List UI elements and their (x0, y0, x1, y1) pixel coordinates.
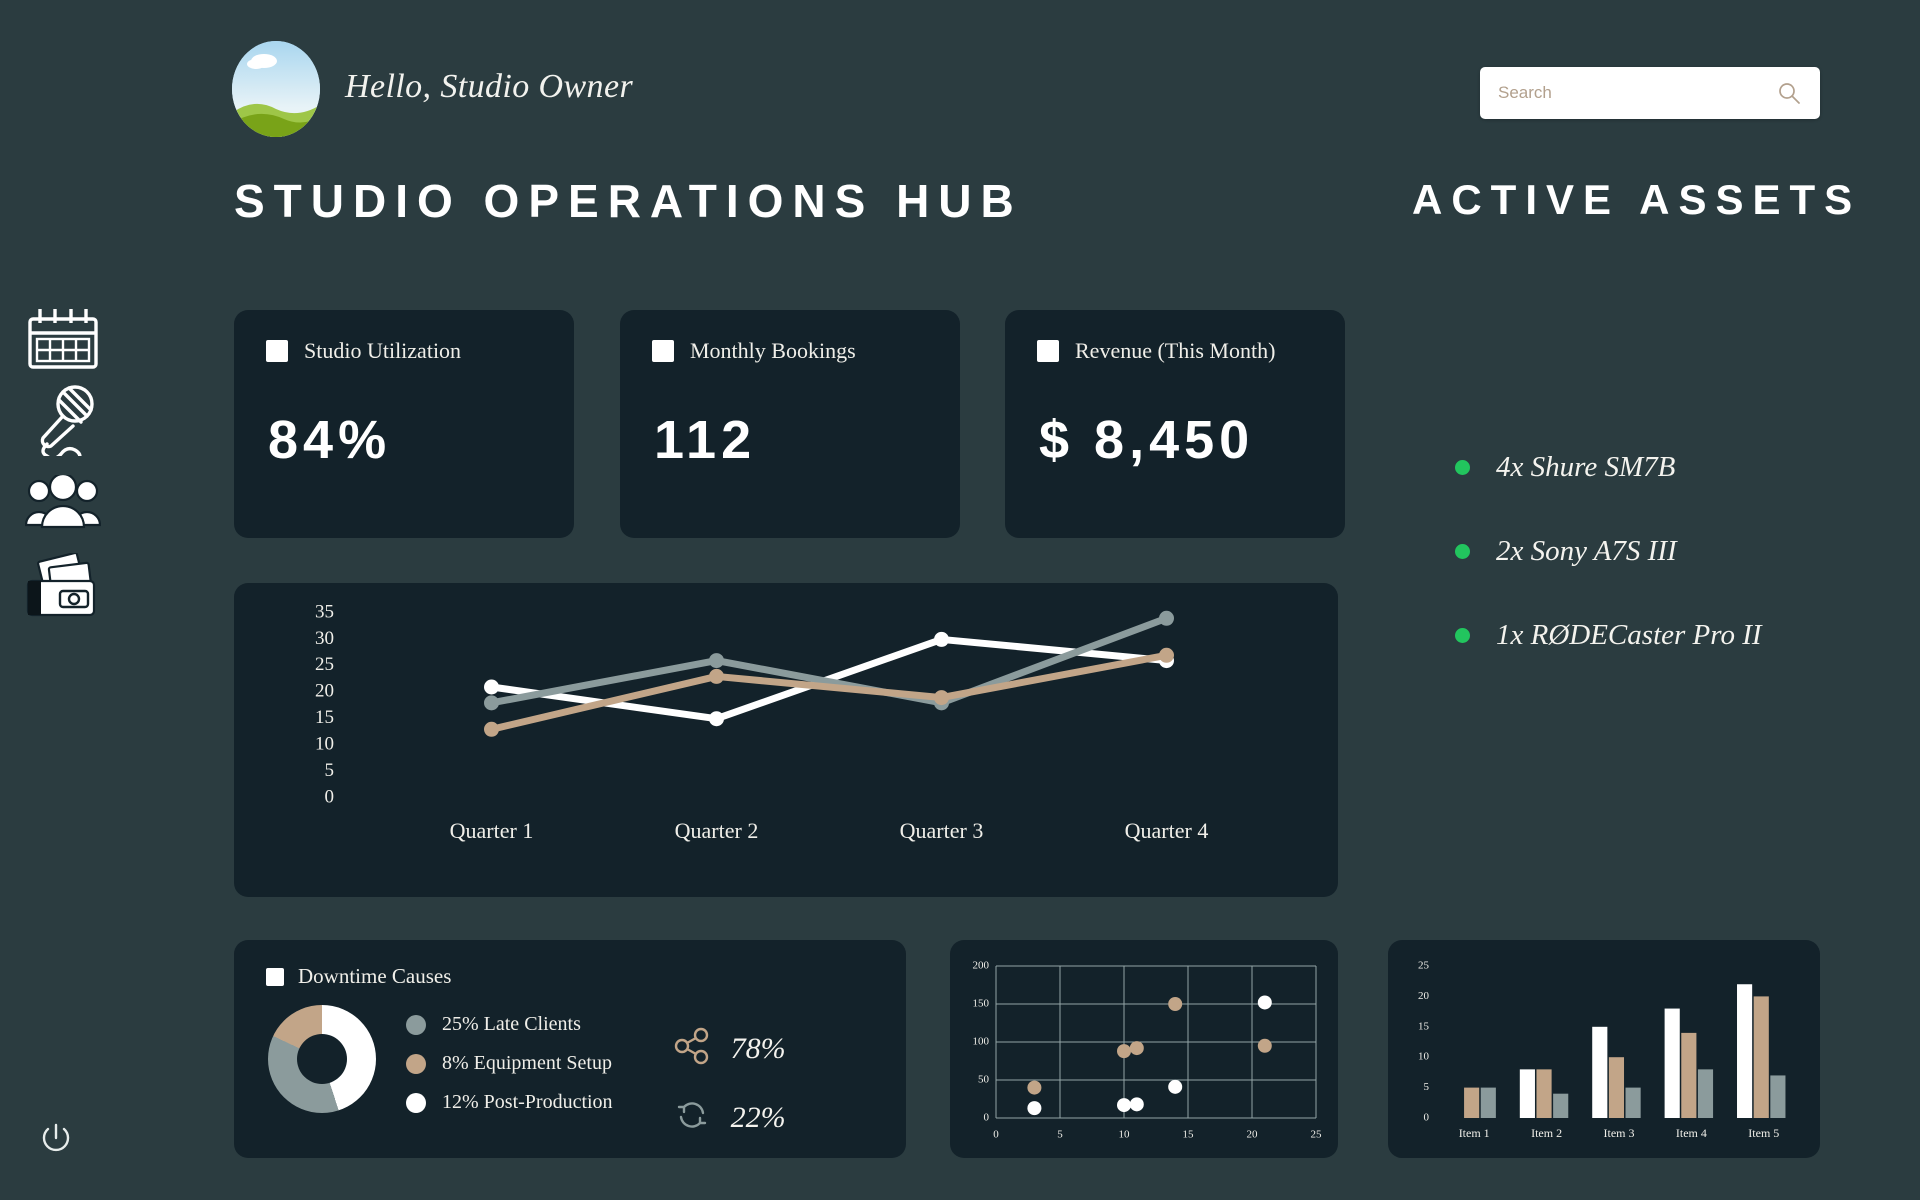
status-dot-icon (1455, 628, 1470, 643)
svg-text:Quarter 1: Quarter 1 (450, 818, 534, 843)
svg-text:10: 10 (315, 734, 334, 755)
quarterly-line-chart: 35302520151050Quarter 1Quarter 2Quarter … (234, 583, 1338, 897)
page-title: STUDIO OPERATIONS HUB (234, 174, 1023, 228)
kpi-label: Studio Utilization (304, 338, 461, 364)
legend-label: 25% Late Clients (442, 1013, 581, 1036)
power-button[interactable] (36, 1120, 76, 1160)
downtime-causes-card[interactable]: Downtime Causes 25% Late Clients 8% Equi… (234, 940, 906, 1158)
svg-text:Quarter 3: Quarter 3 (900, 818, 984, 843)
svg-text:5: 5 (325, 760, 335, 781)
sidebar-item-people[interactable] (22, 462, 104, 544)
sidebar (0, 0, 120, 1200)
kpi-header: Studio Utilization (234, 310, 574, 364)
legend-dot-icon (406, 1015, 426, 1035)
svg-text:0: 0 (993, 1129, 999, 1141)
kpi-header: Revenue (This Month) (1005, 310, 1345, 364)
sidebar-item-microphone[interactable] (22, 378, 104, 460)
legend-label: 8% Equipment Setup (442, 1052, 612, 1075)
svg-text:Quarter 2: Quarter 2 (675, 818, 759, 843)
asset-label: 4x Shure SM7B (1496, 451, 1675, 484)
asset-label: 2x Sony A7S III (1496, 535, 1677, 568)
kpi-value: 84% (234, 409, 574, 471)
downtime-donut-chart (268, 1005, 376, 1113)
svg-text:35: 35 (315, 601, 334, 622)
downtime-stats: 78% 22% (643, 1005, 786, 1139)
greeting-text: Hello, Studio Owner (345, 68, 633, 106)
donut-legend: 25% Late Clients 8% Equipment Setup 12% … (406, 1005, 613, 1114)
dashboard-root: Hello, Studio Owner STUDIO OPERATIONS HU… (0, 0, 1920, 1200)
avatar[interactable] (232, 41, 320, 137)
stat-row-share: 78% (673, 1027, 786, 1070)
svg-text:5: 5 (1057, 1129, 1063, 1141)
svg-text:30: 30 (315, 628, 334, 649)
svg-text:25: 25 (1418, 960, 1430, 972)
kpi-header: Monthly Bookings (620, 310, 960, 364)
kpi-label: Monthly Bookings (690, 338, 856, 364)
svg-text:25: 25 (315, 654, 334, 675)
sidebar-item-calendar[interactable] (22, 298, 104, 380)
svg-text:Quarter 4: Quarter 4 (1125, 818, 1209, 843)
quarterly-line-chart-card[interactable]: 35302520151050Quarter 1Quarter 2Quarter … (234, 583, 1338, 897)
status-dot-icon (1455, 460, 1470, 475)
kpi-card-monthly-bookings[interactable]: Monthly Bookings 112 (620, 310, 960, 538)
donut-body: 25% Late Clients 8% Equipment Setup 12% … (234, 989, 906, 1139)
active-assets-list: 4x Shure SM7B 2x Sony A7S III 1x RØDECas… (1455, 425, 1895, 677)
svg-text:10: 10 (1418, 1051, 1430, 1063)
search-icon[interactable] (1778, 82, 1820, 104)
svg-text:Item 5: Item 5 (1748, 1126, 1779, 1140)
card-header: Downtime Causes (234, 940, 906, 989)
svg-text:Item 4: Item 4 (1676, 1126, 1707, 1140)
share-icon (673, 1027, 711, 1070)
svg-text:25: 25 (1311, 1129, 1323, 1141)
landscape-avatar-icon (232, 124, 320, 137)
search-input[interactable] (1480, 83, 1778, 103)
asset-label: 1x RØDECaster Pro II (1496, 619, 1762, 652)
kpi-value: $ 8,450 (1005, 409, 1345, 471)
svg-text:15: 15 (1183, 1129, 1195, 1141)
square-icon (266, 968, 284, 986)
search-box[interactable] (1480, 67, 1820, 119)
assets-title: ACTIVE ASSETS (1412, 176, 1861, 224)
list-item[interactable]: 4x Shure SM7B (1455, 425, 1895, 509)
refresh-icon (673, 1096, 711, 1139)
svg-text:0: 0 (984, 1112, 990, 1124)
svg-text:0: 0 (325, 786, 335, 807)
svg-text:Item 3: Item 3 (1604, 1126, 1635, 1140)
svg-text:20: 20 (1418, 990, 1430, 1002)
power-icon (38, 1120, 74, 1161)
stat-value: 78% (731, 1032, 786, 1066)
svg-text:15: 15 (1418, 1020, 1430, 1032)
svg-text:150: 150 (973, 998, 990, 1010)
kpi-label: Revenue (This Month) (1075, 338, 1275, 364)
legend-label: 12% Post-Production (442, 1091, 613, 1114)
kpi-value: 112 (620, 409, 960, 471)
list-item[interactable]: 2x Sony A7S III (1455, 509, 1895, 593)
svg-text:20: 20 (1247, 1129, 1259, 1141)
bar-chart-card[interactable]: 0510152025Item 1Item 2Item 3Item 4Item 5 (1388, 940, 1820, 1158)
legend-item: 12% Post-Production (406, 1091, 613, 1114)
people-icon (25, 475, 101, 531)
wallet-money-icon (24, 553, 102, 619)
svg-text:0: 0 (1424, 1112, 1430, 1124)
microphone-icon (27, 382, 99, 456)
svg-text:5: 5 (1424, 1081, 1430, 1093)
legend-item: 25% Late Clients (406, 1013, 613, 1036)
svg-text:Item 1: Item 1 (1459, 1126, 1490, 1140)
svg-text:15: 15 (315, 707, 334, 728)
svg-text:100: 100 (973, 1036, 990, 1048)
sidebar-item-wallet[interactable] (22, 545, 104, 627)
calendar-icon (26, 307, 100, 371)
stat-row-refresh: 22% (673, 1096, 786, 1139)
square-icon (266, 340, 288, 362)
legend-dot-icon (406, 1093, 426, 1113)
card-title: Downtime Causes (298, 964, 451, 989)
svg-text:Item 2: Item 2 (1531, 1126, 1562, 1140)
square-icon (1037, 340, 1059, 362)
list-item[interactable]: 1x RØDECaster Pro II (1455, 593, 1895, 677)
svg-text:200: 200 (973, 960, 990, 972)
legend-item: 8% Equipment Setup (406, 1052, 613, 1075)
svg-text:10: 10 (1119, 1129, 1131, 1141)
legend-dot-icon (406, 1054, 426, 1074)
kpi-card-studio-utilization[interactable]: Studio Utilization 84% (234, 310, 574, 538)
svg-text:50: 50 (978, 1074, 990, 1086)
square-icon (652, 340, 674, 362)
svg-text:20: 20 (315, 681, 334, 702)
scatter-chart: 0510152025050100150200 (950, 940, 1338, 1158)
kpi-card-revenue[interactable]: Revenue (This Month) $ 8,450 (1005, 310, 1345, 538)
item-bar-chart: 0510152025Item 1Item 2Item 3Item 4Item 5 (1388, 940, 1820, 1158)
stat-value: 22% (731, 1101, 786, 1135)
scatter-chart-card[interactable]: 0510152025050100150200 (950, 940, 1338, 1158)
status-dot-icon (1455, 544, 1470, 559)
